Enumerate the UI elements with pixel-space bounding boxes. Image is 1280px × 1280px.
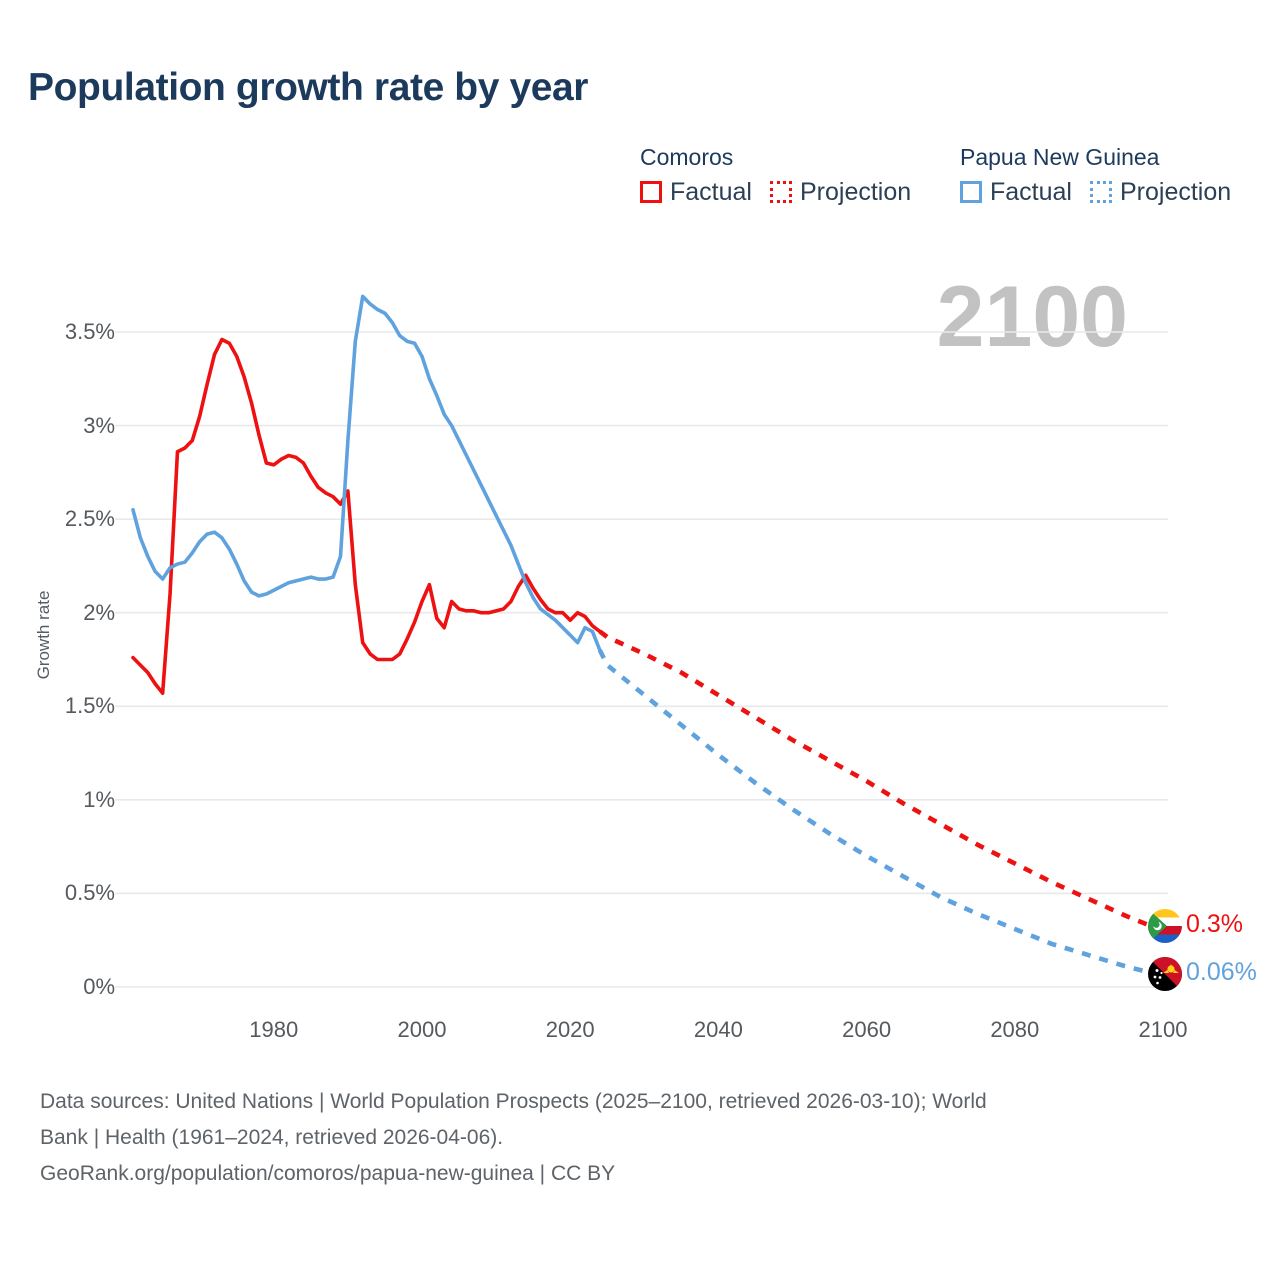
y-axis-tick-label: 1.5%	[23, 693, 115, 719]
x-axis-tick-label: 2000	[362, 1017, 482, 1043]
x-axis-tick-label: 2100	[1103, 1017, 1223, 1043]
x-axis-tick-label: 2060	[807, 1017, 927, 1043]
chart-page: Population growth rate by year Comoros F…	[0, 0, 1280, 1280]
data-series-layer	[133, 296, 1163, 975]
footer-line-attribution: GeoRank.org/population/comoros/papua-new…	[40, 1156, 1240, 1192]
gridlines	[115, 332, 1168, 987]
footer: Data sources: United Nations | World Pop…	[40, 1084, 1240, 1192]
series-line-papua-new-guinea-factual	[133, 296, 600, 650]
x-axis-tick-label: 1980	[214, 1017, 334, 1043]
chart-svg	[0, 0, 1280, 1060]
comoros-flag-icon	[1148, 909, 1182, 943]
plot-area: Growth rate 0%0.5%1%1.5%2%2.5%3%3.5% 198…	[0, 0, 1280, 1060]
series-line-papua-new-guinea-projection	[600, 650, 1163, 976]
footer-line-sources-cont: Bank | Health (1961–2024, retrieved 2026…	[40, 1120, 1240, 1156]
y-axis-tick-label: 1%	[23, 787, 115, 813]
x-axis-tick-label: 2020	[510, 1017, 630, 1043]
y-axis-title: Growth rate	[34, 555, 54, 715]
y-axis-tick-label: 2.5%	[23, 506, 115, 532]
y-axis-tick-label: 0%	[23, 974, 115, 1000]
end-label-papua-new-guinea: 0.06%	[1186, 958, 1257, 987]
series-line-comoros-projection	[600, 631, 1163, 930]
series-line-comoros-factual	[133, 339, 600, 693]
y-axis-tick-label: 0.5%	[23, 880, 115, 906]
x-axis-tick-label: 2080	[955, 1017, 1075, 1043]
y-axis-tick-label: 2%	[23, 600, 115, 626]
end-label-comoros: 0.3%	[1186, 910, 1243, 939]
y-axis-tick-label: 3%	[23, 413, 115, 439]
papua-new-guinea-flag-icon	[1148, 957, 1182, 991]
x-axis-tick-label: 2040	[658, 1017, 778, 1043]
y-axis-tick-label: 3.5%	[23, 319, 115, 345]
footer-line-sources: Data sources: United Nations | World Pop…	[40, 1084, 1240, 1120]
